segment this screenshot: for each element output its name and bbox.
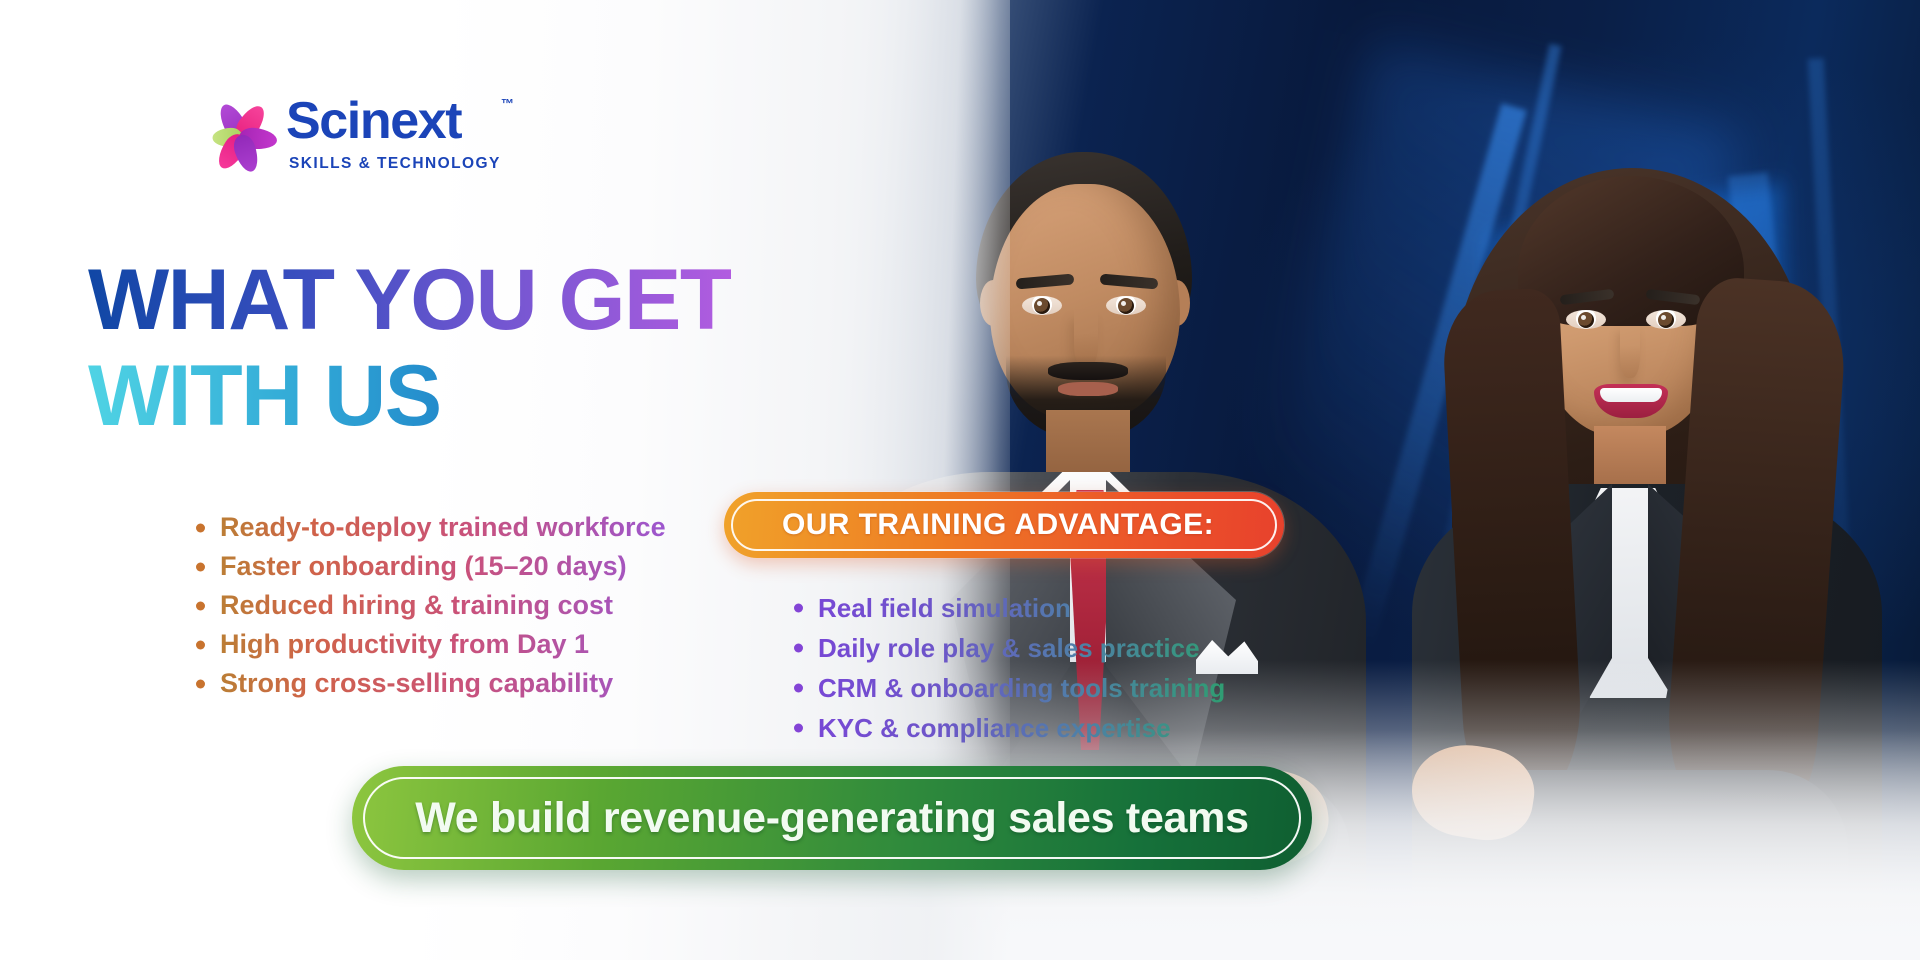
trademark-symbol: ™ — [501, 98, 514, 111]
list-item: Ready-to-deploy trained workforce — [192, 508, 666, 547]
list-item: KYC & compliance expertise — [790, 708, 1225, 748]
woman-eye-right — [1646, 310, 1686, 329]
list-item: Faster onboarding (15–20 days) — [192, 547, 666, 586]
list-item: Real field simulation — [790, 588, 1225, 628]
man-mouth — [1058, 382, 1118, 396]
logo-name: Scinext™ — [286, 96, 501, 147]
benefits-list: Ready-to-deploy trained workforce Faster… — [192, 508, 666, 703]
advantage-list: Real field simulation Daily role play & … — [790, 588, 1225, 748]
list-item: Daily role play & sales practice — [790, 628, 1225, 668]
brand-logo[interactable]: Scinext™ SKILLS & TECHNOLOGY — [208, 96, 501, 174]
page-title: WHAT YOU GET WITH US — [88, 252, 731, 445]
promo-banner: Scinext™ SKILLS & TECHNOLOGY WHAT YOU GE… — [0, 0, 1920, 960]
list-item: Strong cross-selling capability — [192, 664, 666, 703]
training-advantage-label: OUR TRAINING ADVANTAGE: — [782, 508, 1214, 542]
man-eye-left — [1022, 296, 1062, 315]
flower-petals-icon — [208, 100, 274, 174]
headline-line-2: WITH US — [88, 348, 731, 444]
list-item: CRM & onboarding tools training — [790, 668, 1225, 708]
logo-wordmark: Scinext™ SKILLS & TECHNOLOGY — [286, 96, 501, 173]
list-item: High productivity from Day 1 — [192, 625, 666, 664]
headline-line-1: WHAT YOU GET — [88, 252, 731, 348]
logo-name-text: Scinext — [286, 92, 461, 150]
cta-label: We build revenue-generating sales teams — [415, 794, 1248, 843]
cta-button[interactable]: We build revenue-generating sales teams — [352, 766, 1312, 870]
training-advantage-badge[interactable]: OUR TRAINING ADVANTAGE: — [724, 492, 1284, 558]
logo-tagline: SKILLS & TECHNOLOGY — [289, 155, 501, 173]
man-eye-right — [1106, 296, 1146, 315]
woman-eye-left — [1566, 310, 1606, 329]
woman-nose — [1620, 324, 1640, 378]
man-moustache — [1048, 362, 1128, 380]
list-item: Reduced hiring & training cost — [192, 586, 666, 625]
